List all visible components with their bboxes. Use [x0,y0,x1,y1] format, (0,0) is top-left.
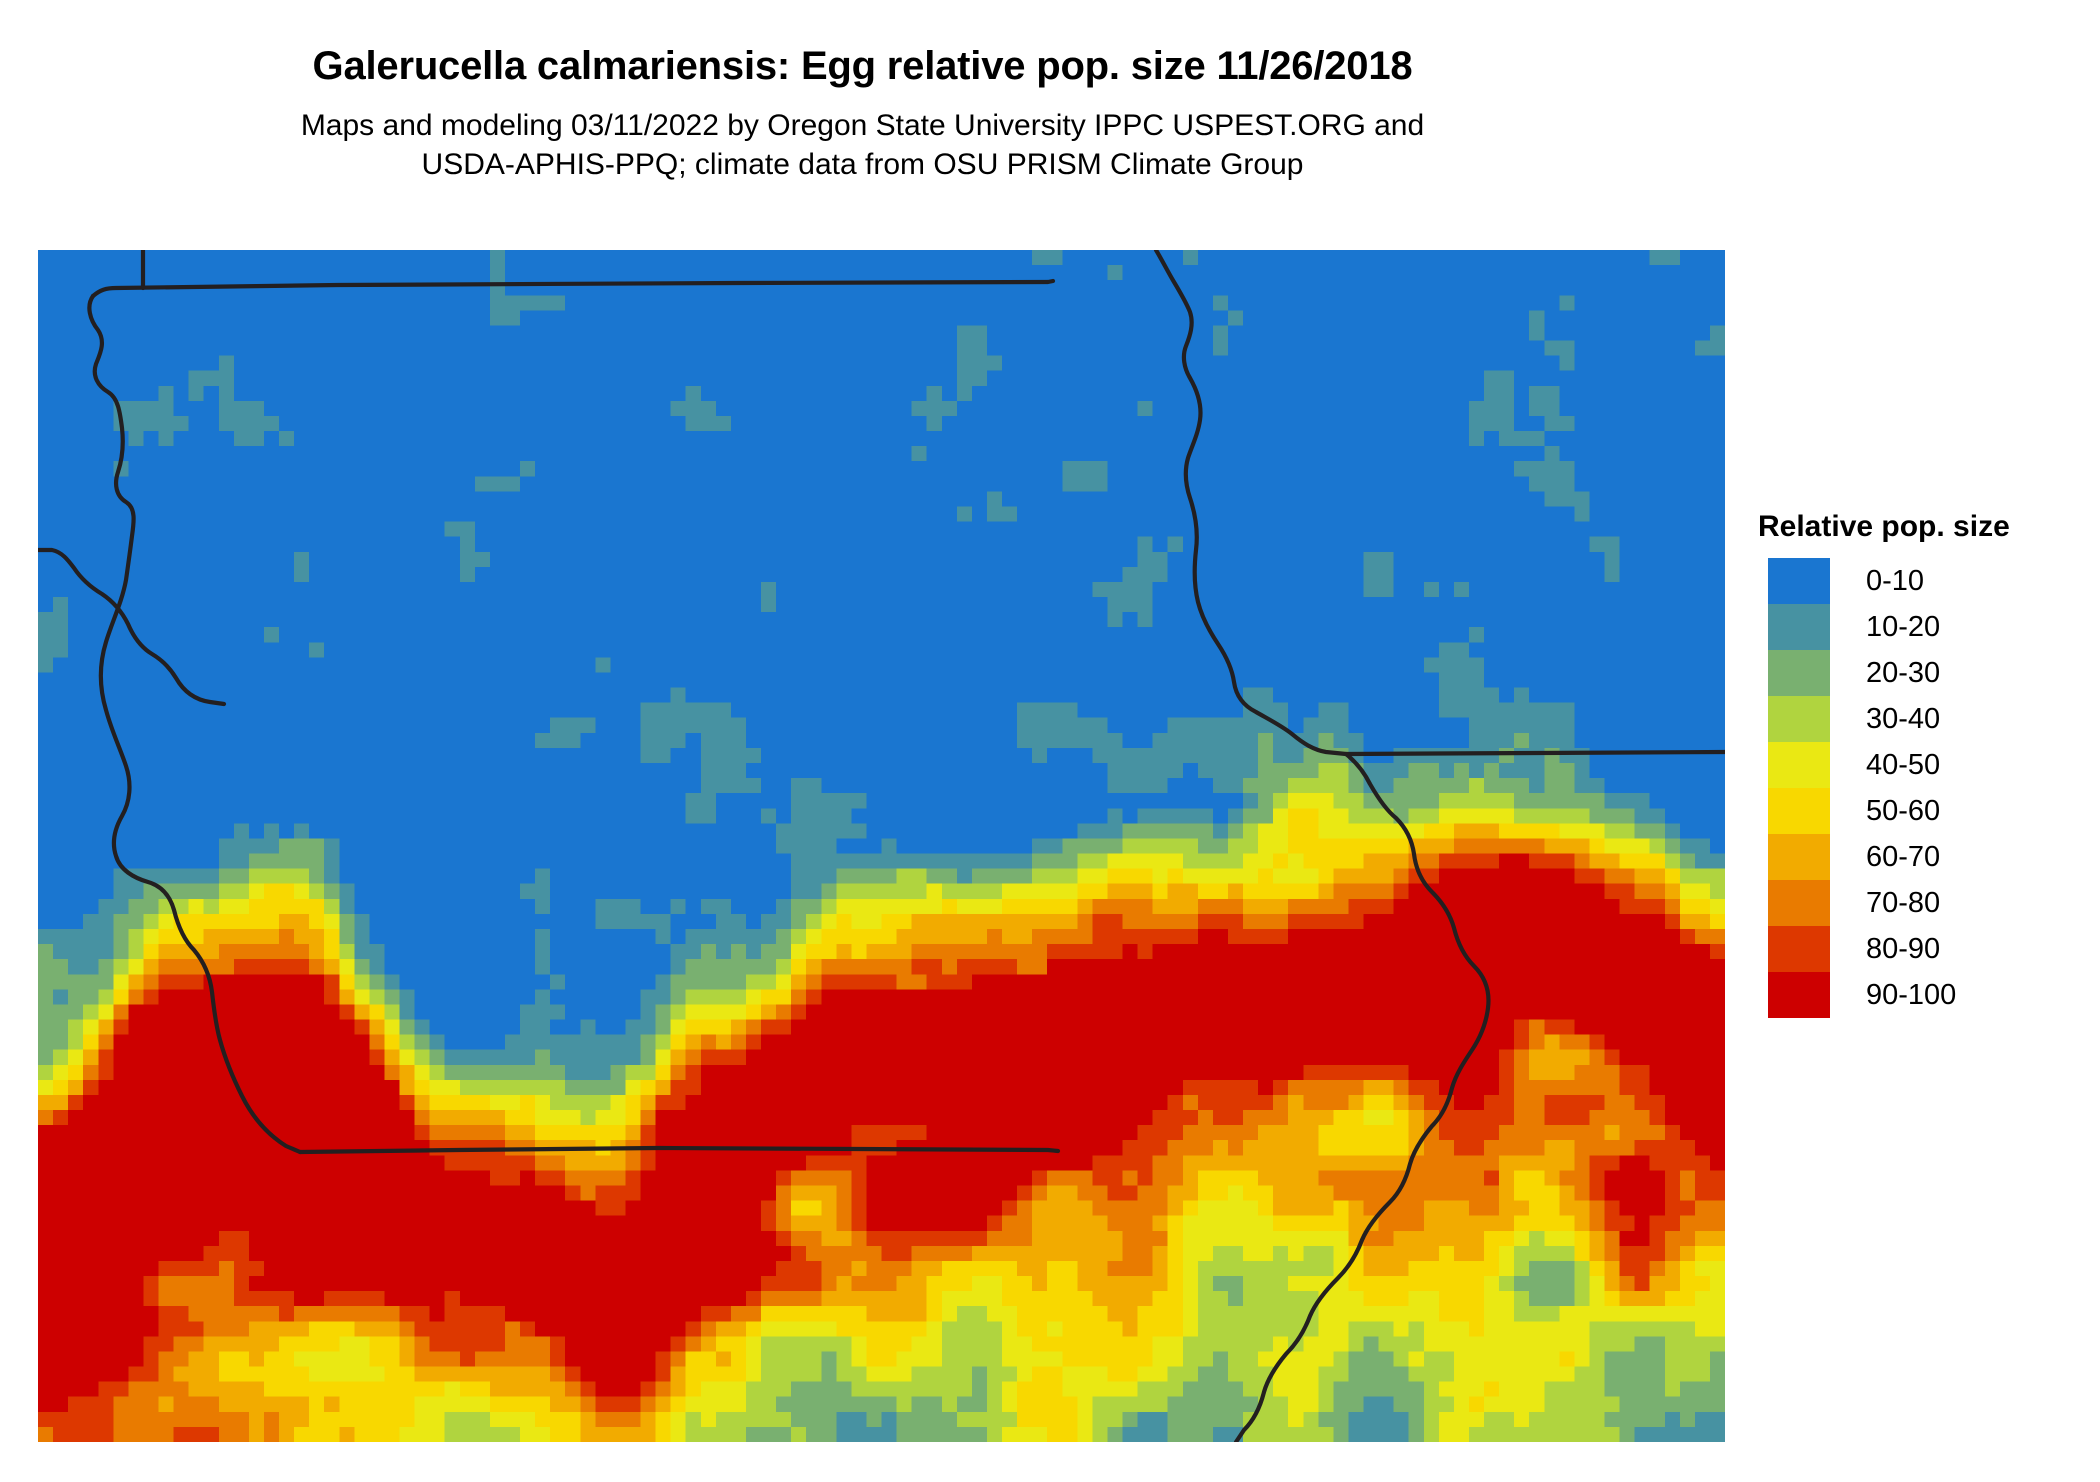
legend-items: 0-1010-2020-3030-4040-5050-6060-7070-808… [1768,558,2010,1018]
map-subtitle: Maps and modeling 03/11/2022 by Oregon S… [0,88,1725,184]
legend-row: 20-30 [1768,650,2010,696]
legend-swatch [1768,742,1830,788]
border-west-state-line [89,296,300,1152]
border-nd-sd [93,281,1053,296]
legend-swatch [1768,788,1830,834]
state-borders-overlay [38,250,1725,1442]
legend-label: 0-10 [1866,565,1924,598]
legend-swatch [1768,926,1830,972]
legend-row: 80-90 [1768,926,2010,972]
legend-row: 50-60 [1768,788,2010,834]
border-ne-sd [300,1148,1058,1152]
title-block: Galerucella calmariensis: Egg relative p… [0,0,1725,184]
legend-label: 60-70 [1866,841,1940,874]
legend-swatch [1768,696,1830,742]
legend-swatch [1768,650,1830,696]
legend-label: 40-50 [1866,749,1940,782]
subtitle-line-2: USDA-APHIS-PPQ; climate data from OSU PR… [0,145,1725,184]
legend-row: 60-70 [1768,834,2010,880]
legend-swatch [1768,972,1830,1018]
legend-row: 70-80 [1768,880,2010,926]
legend-row: 40-50 [1768,742,2010,788]
legend-swatch [1768,604,1830,650]
border-southwest-line [38,550,224,704]
legend-label: 20-30 [1866,657,1940,690]
legend-label: 90-100 [1866,979,1956,1012]
legend-row: 30-40 [1768,696,2010,742]
legend-label: 80-90 [1866,933,1940,966]
legend-title: Relative pop. size [1758,510,2010,544]
map-raster-panel[interactable] [38,250,1725,1442]
border-missouri-river [1156,250,1725,754]
legend: Relative pop. size 0-1010-2020-3030-4040… [1768,510,2010,1018]
legend-label: 70-80 [1866,887,1940,920]
legend-label: 30-40 [1866,703,1940,736]
legend-row: 10-20 [1768,604,2010,650]
legend-row: 0-10 [1768,558,2010,604]
legend-row: 90-100 [1768,972,2010,1018]
border-missouri-river-lower [1236,754,1488,1442]
legend-swatch [1768,834,1830,880]
subtitle-line-1: Maps and modeling 03/11/2022 by Oregon S… [0,106,1725,145]
legend-label: 10-20 [1866,611,1940,644]
legend-label: 50-60 [1866,795,1940,828]
legend-swatch [1768,558,1830,604]
page-title: Galerucella calmariensis: Egg relative p… [0,0,1725,88]
legend-swatch [1768,880,1830,926]
